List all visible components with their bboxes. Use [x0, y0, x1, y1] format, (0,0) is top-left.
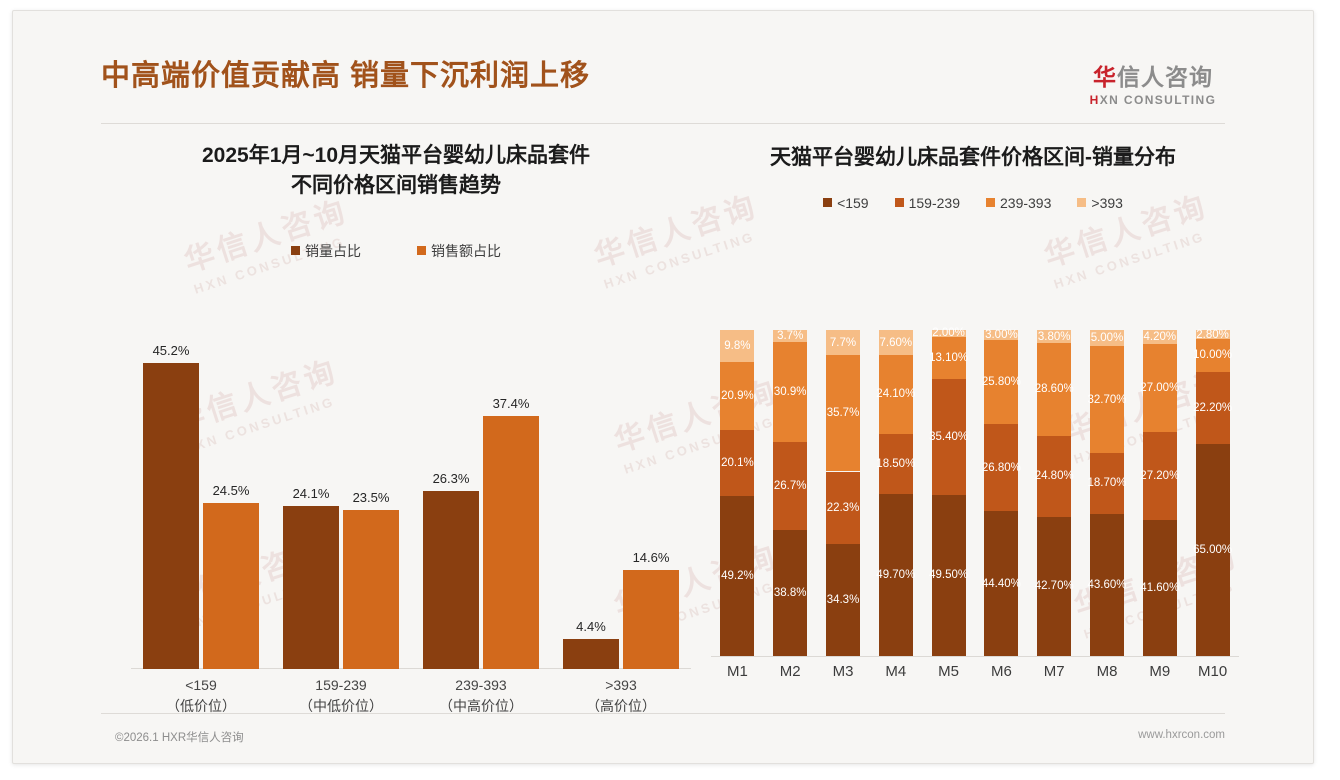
bar-fill	[623, 570, 679, 669]
stack-segment-159-239[interactable]: 20.1%	[720, 430, 754, 496]
legend-item-1[interactable]: 159-239	[895, 195, 960, 211]
stack-value-label: 2.00%	[932, 327, 965, 339]
x-tick->393: >393（高价位）	[551, 675, 691, 717]
legend-item-0[interactable]: <159	[823, 195, 869, 211]
x-axis-line	[711, 656, 1239, 657]
logo-english: HXN CONSULTING	[1073, 93, 1233, 107]
stacked-bar-M5[interactable]: 49.50%35.40%13.10%2.00%	[932, 308, 966, 656]
stacked-bar-M7[interactable]: 42.70%24.80%28.60%3.80%	[1037, 308, 1071, 656]
stack-segment-239-393[interactable]: 10.00%	[1196, 339, 1230, 372]
legend-label: <159	[837, 195, 869, 211]
x-tick-M6: M6	[984, 663, 1018, 680]
stacked-bar-M8[interactable]: 43.60%18.70%32.70%5.00%	[1090, 308, 1124, 656]
stack-value-label: 9.8%	[724, 340, 750, 352]
stack-value-label: 35.40%	[929, 431, 968, 443]
x-tick-239-393: 239-393（中高价位）	[411, 675, 551, 717]
stack-segment->393[interactable]: 2.00%	[932, 330, 966, 337]
bar-fill	[143, 363, 199, 669]
stack-value-label: 20.1%	[721, 457, 754, 469]
x-tick-M7: M7	[1037, 663, 1071, 680]
stack-segment-159-239[interactable]: 35.40%	[932, 379, 966, 494]
legend-swatch-icon	[823, 198, 832, 207]
grouped-bar-x-axis: <159（低价位）159-239（中低价位）239-393（中高价位）>393（…	[131, 675, 691, 735]
left-chart-title-line2: 不同价格区间销售趋势	[101, 171, 691, 201]
stack-value-label: 28.60%	[1035, 383, 1074, 395]
bar-value-label: 26.3%	[433, 471, 470, 486]
brand-logo: 华信人咨询 HXN CONSULTING	[1073, 65, 1233, 107]
stack-value-label: 26.80%	[982, 462, 1021, 474]
bar-fill	[483, 416, 539, 669]
legend-label: 159-239	[909, 195, 960, 211]
stack-segment-159-239[interactable]: 18.70%	[1090, 453, 1124, 514]
stack-segment-159-239[interactable]: 26.7%	[773, 442, 807, 529]
stack-segment->393[interactable]: 3.80%	[1037, 330, 1071, 342]
legend-swatch-icon	[291, 246, 300, 255]
left-chart-title: 2025年1月~10月天猫平台婴幼儿床品套件 不同价格区间销售趋势	[101, 141, 691, 201]
slide-canvas: 中高端价值贡献高 销量下沉利润上移 华信人咨询 HXN CONSULTING 华…	[12, 10, 1314, 764]
x-tick-range: >393	[551, 675, 691, 696]
stack-value-label: 34.3%	[827, 594, 860, 606]
stack-value-label: 41.60%	[1140, 582, 1179, 594]
stack-value-label: 3.00%	[985, 329, 1018, 341]
stack-value-label: 4.20%	[1143, 331, 1176, 343]
stack-value-label: 20.9%	[721, 390, 754, 402]
x-tick-M8: M8	[1090, 663, 1124, 680]
stack-segment-239-393[interactable]: 25.80%	[984, 340, 1018, 424]
bar-fill	[283, 506, 339, 669]
x-tick-range: 159-239	[271, 675, 411, 696]
x-tick-M5: M5	[932, 663, 966, 680]
legend-swatch-icon	[895, 198, 904, 207]
stack-segment->393[interactable]: 4.20%	[1143, 330, 1177, 344]
stacked-bar-x-axis: M1M2M3M4M5M6M7M8M9M10	[711, 663, 1239, 693]
stack-value-label: 25.80%	[982, 376, 1021, 388]
bar-value-label: 24.5%	[213, 483, 250, 498]
stacked-bar-M10[interactable]: 65.00%22.20%10.00%2.80%	[1196, 308, 1230, 656]
bar-value-label: 23.5%	[353, 490, 390, 505]
stack-value-label: 2.80%	[1196, 329, 1229, 341]
stack-segment-159-239[interactable]: 18.50%	[879, 434, 913, 494]
stack-segment->393[interactable]: 2.80%	[1196, 330, 1230, 339]
header-divider	[101, 123, 1225, 124]
legend-item-2[interactable]: 239-393	[986, 195, 1051, 211]
stack-value-label: 32.70%	[1088, 394, 1127, 406]
stack-value-label: 22.20%	[1193, 402, 1232, 414]
stacked-bar-M4[interactable]: 49.70%18.50%24.10%7.60%	[879, 308, 913, 656]
stack-segment-<159[interactable]: 43.60%	[1090, 514, 1124, 656]
left-chart-legend: 销量占比销售额占比	[101, 241, 691, 261]
stack-segment->393[interactable]: 7.7%	[826, 330, 860, 355]
logo-chinese-red: 华	[1093, 64, 1117, 90]
stack-value-label: 10.00%	[1193, 349, 1232, 361]
stack-value-label: 27.20%	[1140, 470, 1179, 482]
stack-segment-159-239[interactable]: 22.20%	[1196, 372, 1230, 444]
bar-fill	[563, 639, 619, 669]
stack-segment-<159[interactable]: 65.00%	[1196, 444, 1230, 656]
stack-value-label: 65.00%	[1193, 544, 1232, 556]
stack-segment-<159[interactable]: 41.60%	[1143, 520, 1177, 656]
stack-value-label: 18.50%	[876, 458, 915, 470]
stack-segment-<159[interactable]: 44.40%	[984, 511, 1018, 656]
x-tick-159-239: 159-239（中低价位）	[271, 675, 411, 717]
footer-copyright: ©2026.1 HXR华信人咨询	[115, 729, 244, 745]
legend-item-1[interactable]: 销售额占比	[417, 241, 501, 261]
stacked-bar-M9[interactable]: 41.60%27.20%27.00%4.20%	[1143, 308, 1177, 656]
x-tick-range: <159	[131, 675, 271, 696]
stacked-bar-M1[interactable]: 49.2%20.1%20.9%9.8%	[720, 308, 754, 656]
stack-segment-<159[interactable]: 38.8%	[773, 530, 807, 656]
left-chart-title-line1: 2025年1月~10月天猫平台婴幼儿床品套件	[101, 141, 691, 171]
logo-chinese-rest: 信人咨询	[1117, 64, 1213, 90]
stack-value-label: 30.9%	[774, 386, 807, 398]
x-tick-M3: M3	[826, 663, 860, 680]
grouped-bar-plot: 45.2%24.5%24.1%23.5%26.3%37.4%4.4%14.6%	[131, 309, 691, 669]
stack-segment-239-393[interactable]: 20.9%	[720, 362, 754, 430]
x-tick-M10: M10	[1196, 663, 1230, 680]
stack-value-label: 3.7%	[777, 330, 803, 342]
stack-segment-<159[interactable]: 49.70%	[879, 494, 913, 656]
legend-label: 239-393	[1000, 195, 1051, 211]
bar-value-label: 14.6%	[633, 550, 670, 565]
stack-value-label: 26.7%	[774, 480, 807, 492]
stack-segment-239-393[interactable]: 24.10%	[879, 355, 913, 434]
stack-segment-239-393[interactable]: 27.00%	[1143, 344, 1177, 432]
bar-fill	[343, 510, 399, 669]
bar-value-label: 4.4%	[576, 619, 606, 634]
legend-swatch-icon	[1077, 198, 1086, 207]
stack-segment-239-393[interactable]: 13.10%	[932, 337, 966, 380]
stack-value-label: 22.3%	[827, 502, 860, 514]
stack-segment-<159[interactable]: 34.3%	[826, 544, 860, 656]
x-tick-M1: M1	[720, 663, 754, 680]
stack-segment-159-239[interactable]: 24.80%	[1037, 436, 1071, 517]
stack-segment-159-239[interactable]: 22.3%	[826, 472, 860, 545]
stack-value-label: 42.70%	[1035, 580, 1074, 592]
stack-segment-159-239[interactable]: 26.80%	[984, 424, 1018, 511]
stack-value-label: 13.10%	[929, 352, 968, 364]
right-chart-legend: <159159-239239-393>393	[703, 195, 1243, 211]
stack-value-label: 27.00%	[1140, 382, 1179, 394]
bar-fill	[423, 491, 479, 669]
right-chart-panel: 天猫平台婴幼儿床品套件价格区间-销量分布 <159159-239239-393>…	[703, 141, 1243, 721]
stack-value-label: 35.7%	[827, 407, 860, 419]
stack-value-label: 5.00%	[1091, 332, 1124, 344]
stack-value-label: 49.70%	[876, 569, 915, 581]
right-chart-title: 天猫平台婴幼儿床品套件价格区间-销量分布	[703, 141, 1243, 173]
legend-item-3[interactable]: >393	[1077, 195, 1123, 211]
stack-value-label: 7.60%	[879, 337, 912, 349]
stack-segment-<159[interactable]: 42.70%	[1037, 517, 1071, 656]
stack-value-label: 44.40%	[982, 578, 1021, 590]
stacked-bar-M6[interactable]: 44.40%26.80%25.80%3.00%	[984, 308, 1018, 656]
x-tick-M9: M9	[1143, 663, 1177, 680]
bar-value-label: 45.2%	[153, 343, 190, 358]
left-chart-panel: 2025年1月~10月天猫平台婴幼儿床品套件 不同价格区间销售趋势 销量占比销售…	[101, 141, 691, 721]
bar-value-label: 24.1%	[293, 486, 330, 501]
x-tick-M4: M4	[879, 663, 913, 680]
page-title: 中高端价值贡献高 销量下沉利润上移	[101, 52, 590, 94]
stack-value-label: 18.70%	[1088, 477, 1127, 489]
stack-segment-159-239[interactable]: 27.20%	[1143, 432, 1177, 521]
stack-segment-239-393[interactable]: 28.60%	[1037, 343, 1071, 436]
stack-value-label: 49.2%	[721, 570, 754, 582]
x-tick-<159: <159（低价位）	[131, 675, 271, 717]
legend-swatch-icon	[986, 198, 995, 207]
stack-value-label: 7.7%	[830, 337, 856, 349]
legend-label: 销量占比	[305, 241, 361, 261]
stack-value-label: 3.80%	[1038, 331, 1071, 343]
legend-item-0[interactable]: 销量占比	[291, 241, 361, 261]
stack-segment-<159[interactable]: 49.2%	[720, 496, 754, 656]
bar-fill	[203, 503, 259, 669]
stack-segment->393[interactable]: 5.00%	[1090, 330, 1124, 346]
stack-segment->393[interactable]: 3.00%	[984, 330, 1018, 340]
bar-value-label: 37.4%	[493, 396, 530, 411]
x-tick-range: 239-393	[411, 675, 551, 696]
stack-value-label: 24.10%	[876, 388, 915, 400]
footer-divider	[101, 713, 1225, 714]
x-tick-M2: M2	[773, 663, 807, 680]
logo-english-red: H	[1090, 93, 1100, 107]
stack-segment->393[interactable]: 9.8%	[720, 330, 754, 362]
legend-label: 销售额占比	[431, 241, 501, 261]
stack-value-label: 49.50%	[929, 569, 968, 581]
stack-segment->393[interactable]: 7.60%	[879, 330, 913, 355]
logo-chinese: 华信人咨询	[1073, 65, 1233, 90]
stacked-bar-M3[interactable]: 34.3%22.3%35.7%7.7%	[826, 308, 860, 656]
stack-segment-239-393[interactable]: 32.70%	[1090, 346, 1124, 453]
stack-segment-239-393[interactable]: 35.7%	[826, 355, 860, 471]
slide-header: 中高端价值贡献高 销量下沉利润上移 华信人咨询 HXN CONSULTING	[13, 11, 1313, 123]
stack-value-label: 43.60%	[1088, 579, 1127, 591]
stack-value-label: 24.80%	[1035, 470, 1074, 482]
footer-website: www.hxrcon.com	[1138, 729, 1225, 741]
legend-swatch-icon	[417, 246, 426, 255]
stacked-bar-plot: 49.2%20.1%20.9%9.8%38.8%26.7%30.9%3.7%34…	[711, 309, 1239, 657]
legend-label: >393	[1091, 195, 1123, 211]
stacked-bar-M2[interactable]: 38.8%26.7%30.9%3.7%	[773, 308, 807, 656]
logo-english-rest: XN CONSULTING	[1100, 93, 1217, 107]
stack-segment->393[interactable]: 3.7%	[773, 330, 807, 342]
stack-value-label: 38.8%	[774, 587, 807, 599]
stack-segment-<159[interactable]: 49.50%	[932, 495, 966, 656]
stack-segment-239-393[interactable]: 30.9%	[773, 342, 807, 443]
